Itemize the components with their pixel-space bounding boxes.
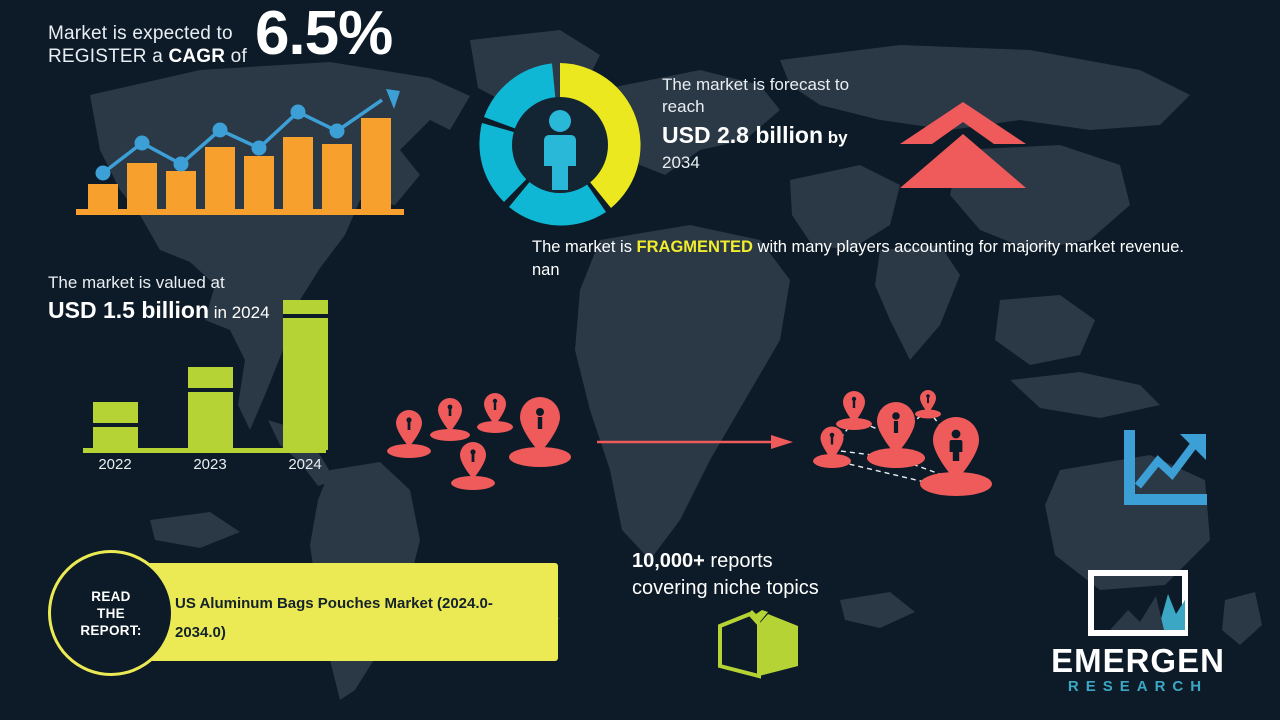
forecast-line-1: The market is forecast to [662,74,902,96]
growth-trend-chart [70,85,410,225]
forecast-value-text: USD 2.8 billion [662,122,823,148]
bar-2023 [188,367,233,450]
reports-count: 10,000+ [632,550,705,572]
trend-arrow-head [386,89,400,109]
emergen-research-logo: EMERGEN RESEARCH [1018,570,1258,700]
logo-name: EMERGEN [1018,642,1258,680]
forecast-block: The market is forecast to reach USD 2.8 … [662,74,902,173]
read-report-line-1: READ [80,588,141,605]
up-arrows-icon [898,100,1028,190]
reports-line-2: covering niche topics [632,575,892,602]
open-book-icon [716,610,802,682]
map-pin-person-icon-group [385,385,585,490]
valuation-line-1: The market is valued at [48,272,348,294]
cagr-keyword: CAGR [168,46,225,67]
market-share-donut [470,55,650,235]
bar-label-2023: 2023 [193,456,226,472]
forecast-by-text: by [823,128,848,147]
bar-label-2024: 2024 [288,456,321,472]
forecast-line-2: reach [662,96,902,118]
forecast-value: USD 2.8 billion by [662,121,902,152]
report-title: US Aluminum Bags Pouches Market (2024.0-… [175,589,535,647]
infographic-canvas: Market is expected to REGISTER a CAGR of… [0,0,1280,720]
cagr-block: Market is expected to REGISTER a CAGR of… [48,22,468,68]
fragmentation-text: The market is FRAGMENTED with many playe… [532,236,1212,282]
logo-mark-icon [1088,570,1188,636]
bar-2024 [283,300,328,450]
map-pin-network-icon-group [808,388,1008,500]
forecast-year: 2034 [662,152,902,173]
fragmentation-pre: The market is [532,238,637,256]
reports-block: 10,000+ reports covering niche topics [632,548,892,602]
fragmentation-highlight: FRAGMENTED [637,238,753,256]
valuation-bar-chart: 2022 2023 2024 [80,292,330,472]
logo-subtitle: RESEARCH [1018,678,1258,695]
reports-line-1: 10,000+ reports [632,548,892,575]
reports-word: reports [705,550,773,572]
cagr-line-1: Market is expected to [48,22,247,45]
bar-label-2022: 2022 [98,456,131,472]
bar-2022 [93,402,138,450]
read-report-label: READ THE REPORT: [80,588,141,639]
chart-bars [88,118,391,210]
read-report-line-2: THE [80,605,141,622]
read-report-banner[interactable]: US Aluminum Bags Pouches Market (2024.0-… [140,563,558,661]
read-report-button[interactable]: READ THE REPORT: [48,550,174,676]
cagr-of-text: of [225,46,247,67]
read-report-line-3: REPORT: [80,622,141,639]
fragmentation-block: The market is FRAGMENTED with many playe… [532,236,1212,282]
cagr-value: 6.5% [255,6,392,62]
cagr-register-text: REGISTER a [48,46,168,67]
bar-chart-axis [83,448,326,453]
line-chart-arrow-icon [1120,428,1210,510]
cagr-line-2: REGISTER a CAGR of [48,45,247,68]
right-arrow-icon [595,432,795,452]
chart-baseline [76,209,404,215]
